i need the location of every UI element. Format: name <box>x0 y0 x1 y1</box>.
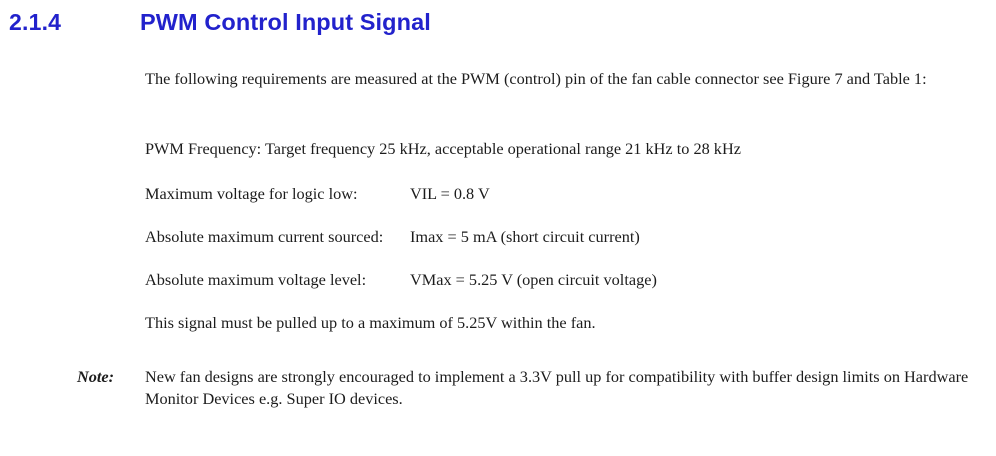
section-title: PWM Control Input Signal <box>140 8 431 36</box>
section-number: 2.1.4 <box>0 8 140 36</box>
spec-value: VIL = 0.8 V <box>410 183 980 205</box>
intro-paragraph: The following requirements are measured … <box>145 68 980 90</box>
section-heading: 2.1.4 PWM Control Input Signal <box>0 8 996 42</box>
spec-label: Absolute maximum voltage level: <box>145 269 410 291</box>
spec-row: Absolute maximum voltage level: VMax = 5… <box>145 269 980 291</box>
spec-value: VMax = 5.25 V (open circuit voltage) <box>410 269 980 291</box>
spec-row: Absolute maximum current sourced: Imax =… <box>145 226 980 248</box>
pullup-paragraph: This signal must be pulled up to a maxim… <box>145 312 980 334</box>
spec-label: Absolute maximum current sourced: <box>145 226 410 248</box>
note-block: Note: New fan designs are strongly encou… <box>77 366 982 409</box>
spec-value: Imax = 5 mA (short circuit current) <box>410 226 980 248</box>
spec-label: Maximum voltage for logic low: <box>145 183 410 205</box>
document-page: 2.1.4 PWM Control Input Signal The follo… <box>0 0 996 456</box>
note-text: New fan designs are strongly encouraged … <box>145 366 982 409</box>
note-label: Note: <box>77 366 145 388</box>
frequency-paragraph: PWM Frequency: Target frequency 25 kHz, … <box>145 138 980 160</box>
spec-row: Maximum voltage for logic low: VIL = 0.8… <box>145 183 980 205</box>
